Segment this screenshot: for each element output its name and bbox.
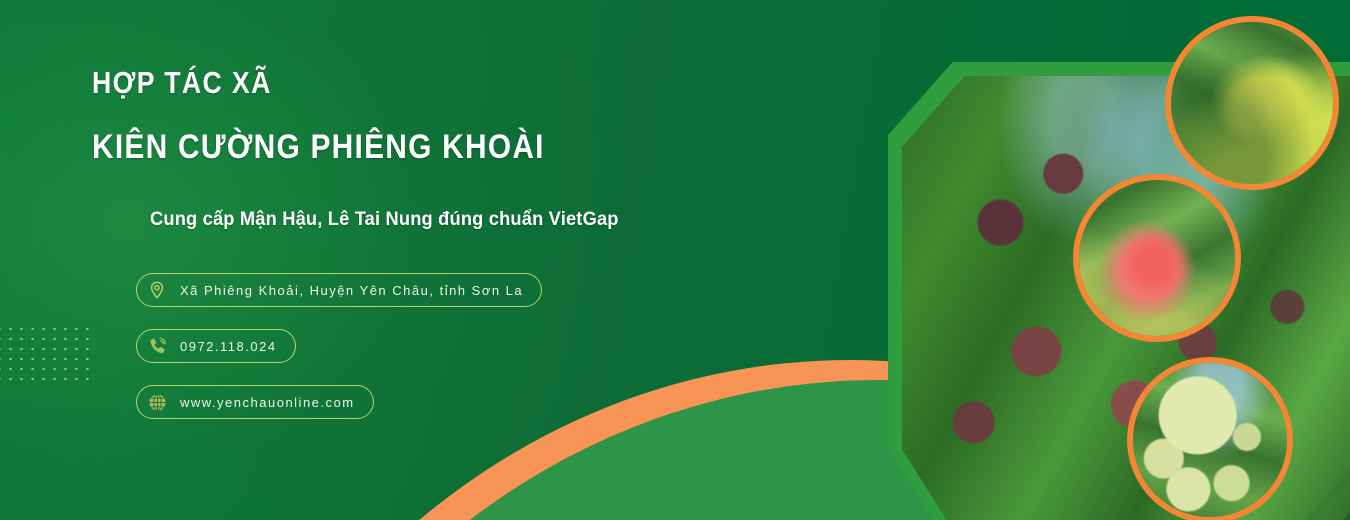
dragon-fruit-bud-photo-image [1171,22,1333,184]
globe-icon [146,391,168,413]
phone-pill[interactable]: 0972.118.024 [136,329,296,363]
tagline: Cung cấp Mận Hậu, Lê Tai Nung đúng chuẩn… [150,209,805,231]
phone-icon [146,335,168,357]
photo-collage [830,0,1350,520]
dragon-fruit-flower-photo [1073,174,1241,342]
brand-line-1: HỢP TÁC XÃ [92,66,728,100]
website-pill[interactable]: www.yenchauonline.com [136,385,374,419]
green-plums-photo-image [1133,363,1287,517]
contact-row-address: Xã Phiêng Khoải, Huyện Yên Châu, tỉnh Sơ… [136,273,832,329]
location-pin-icon [146,279,168,301]
address-text: Xã Phiêng Khoải, Huyện Yên Châu, tỉnh Sơ… [180,283,523,298]
dragon-fruit-flower-photo-image [1079,180,1235,336]
phone-text: 0972.118.024 [180,339,277,354]
dot-grid-decoration [0,324,90,380]
promotional-banner: HỢP TÁC XÃ KIÊN CƯỜNG PHIÊNG KHOÀI Cung … [0,0,1350,520]
contact-row-website: www.yenchauonline.com [136,385,832,441]
text-column: HỢP TÁC XÃ KIÊN CƯỜNG PHIÊNG KHOÀI Cung … [92,66,832,441]
address-pill[interactable]: Xã Phiêng Khoải, Huyện Yên Châu, tỉnh Sơ… [136,273,542,307]
brand-line-2: KIÊN CƯỜNG PHIÊNG KHOÀI [92,129,743,166]
green-plums-photo [1127,357,1293,520]
dragon-fruit-bud-photo [1165,16,1339,190]
website-text: www.yenchauonline.com [180,395,355,410]
contact-list: Xã Phiêng Khoải, Huyện Yên Châu, tỉnh Sơ… [136,273,832,441]
contact-row-phone: 0972.118.024 [136,329,832,385]
